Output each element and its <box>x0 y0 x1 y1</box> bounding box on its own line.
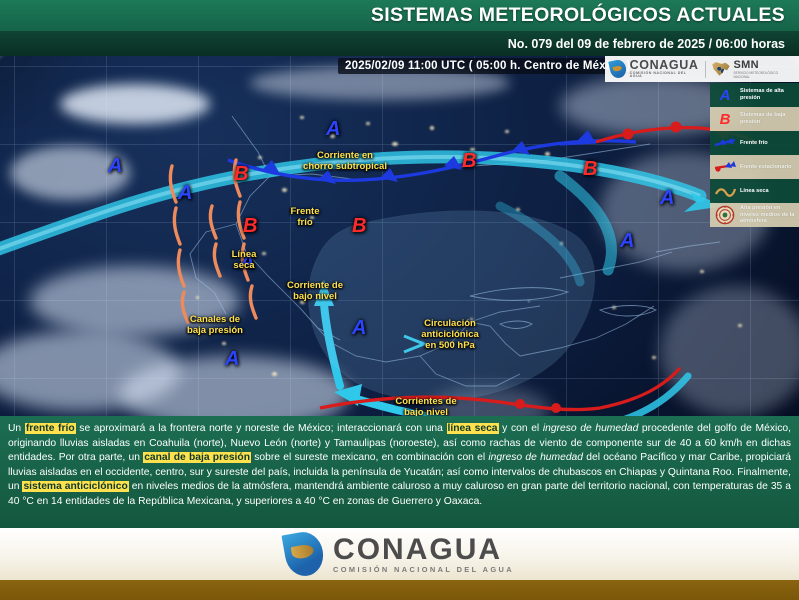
high-pressure-marker: A <box>326 119 340 139</box>
conagua-wordmark: CONAGUA <box>630 59 699 72</box>
low-pressure-marker: B <box>352 216 366 236</box>
mexico-map-icon <box>712 62 731 77</box>
conagua-logo-small: CONAGUA COMISIÓN NACIONAL DEL AGUA <box>610 59 699 79</box>
anticyclonic-circulation-area <box>309 211 595 400</box>
smn-logo: SMN SERVICIO METEOROLÓGICO NACIONAL <box>712 59 794 79</box>
high-pressure-marker: A <box>178 183 192 203</box>
smn-wordmark: SMN <box>733 59 794 71</box>
low-pressure-marker: B <box>462 151 476 171</box>
highlighted-term: frente frío <box>25 423 76 434</box>
high-pressure-marker: A <box>620 231 634 251</box>
low-pressure-marker: B <box>234 164 248 184</box>
footer-wordmark: CONAGUA <box>333 534 514 566</box>
map-legend: A Sistemas de alta presión B Sistemas de… <box>710 83 799 227</box>
text-run: sobre el sureste mexicano, en combinació… <box>251 452 488 463</box>
map-vector-overlay <box>0 56 799 416</box>
water-drop-icon <box>608 59 627 80</box>
map-timestamp: 2025/02/09 11:00 UTC ( 05:00 h. Centro d… <box>338 58 637 74</box>
legend-label: Frente estacionario <box>740 164 792 171</box>
legend-item-low-pressure[interactable]: B Sistemas de baja presión <box>710 107 799 131</box>
high-pressure-marker: A <box>108 156 122 176</box>
high-pressure-marker: A <box>240 252 254 272</box>
divider <box>705 61 706 78</box>
page-header: SISTEMAS METEOROLÓGICOS ACTUALES No. 079… <box>0 0 799 56</box>
highlighted-term: línea seca <box>447 423 499 434</box>
header-title-bar: SISTEMAS METEOROLÓGICOS ACTUALES <box>0 0 799 31</box>
legend-item-high-pressure-mid-levels[interactable]: Alta presión en niveles medios de la atm… <box>710 203 799 227</box>
emphasized-term: ingreso de humedad <box>543 423 638 434</box>
letter-a-icon: A <box>714 87 736 104</box>
legend-label: Alta presión en niveles medios de la atm… <box>740 205 796 225</box>
emphasized-term: ingreso de humedad <box>488 452 583 463</box>
bulletin-number-date: No. 079 del 09 de febrero de 2025 / 06:0… <box>508 37 785 51</box>
legend-item-dry-line[interactable]: Línea seca <box>710 179 799 203</box>
legend-label: Línea seca <box>740 188 769 195</box>
high-pressure-mid-levels-icon <box>714 205 736 225</box>
high-pressure-marker: A <box>352 318 366 338</box>
water-drop-eagle-icon <box>281 529 326 579</box>
weather-bulletin-page: SISTEMAS METEOROLÓGICOS ACTUALES No. 079… <box>0 0 799 600</box>
stationary-front-icon <box>714 161 736 173</box>
smn-tagline: SERVICIO METEOROLÓGICO NACIONAL <box>733 71 794 79</box>
high-pressure-marker: A <box>660 188 674 208</box>
satellite-weather-map[interactable]: 2025/02/09 11:00 UTC ( 05:00 h. Centro d… <box>0 56 799 416</box>
high-pressure-marker: A <box>225 349 239 369</box>
low-pressure-marker: B <box>583 159 597 179</box>
legend-item-cold-front[interactable]: Frente frío <box>710 131 799 155</box>
page-footer: CONAGUA COMISIÓN NACIONAL DEL AGUA <box>0 528 799 580</box>
text-run: y con el <box>499 423 543 434</box>
header-subtitle-bar: No. 079 del 09 de febrero de 2025 / 06:0… <box>0 31 799 56</box>
legend-label: Sistemas de alta presión <box>740 88 796 101</box>
page-title: SISTEMAS METEOROLÓGICOS ACTUALES <box>371 4 785 27</box>
discussion-paragraph: Un frente frío se aproximará a la fronte… <box>8 422 791 510</box>
conagua-tagline: COMISIÓN NACIONAL DEL AGUA <box>630 72 699 79</box>
highlighted-term: canal de baja presión <box>143 452 251 463</box>
letter-b-icon: B <box>714 111 736 128</box>
legend-label: Frente frío <box>740 140 768 147</box>
legend-item-high-pressure[interactable]: A Sistemas de alta presión <box>710 83 799 107</box>
text-run: se aproximará a la frontera norte y nore… <box>76 423 447 434</box>
footer-tagline: COMISIÓN NACIONAL DEL AGUA <box>333 566 514 574</box>
conagua-logo-large: CONAGUA COMISIÓN NACIONAL DEL AGUA <box>285 532 514 576</box>
text-run: Un <box>8 423 25 434</box>
highlighted-term: sistema anticiclónico <box>22 481 128 492</box>
legend-label: Sistemas de baja presión <box>740 112 796 125</box>
map-logo-bar: CONAGUA COMISIÓN NACIONAL DEL AGUA SMN S… <box>605 56 799 82</box>
dry-line-icon <box>714 185 736 197</box>
legend-item-stationary-front[interactable]: Frente estacionario <box>710 155 799 179</box>
cold-front-icon <box>714 137 736 149</box>
discussion-text-block: Un frente frío se aproximará a la fronte… <box>0 416 799 528</box>
footer-gold-bar <box>0 580 799 600</box>
low-pressure-marker: B <box>243 216 257 236</box>
